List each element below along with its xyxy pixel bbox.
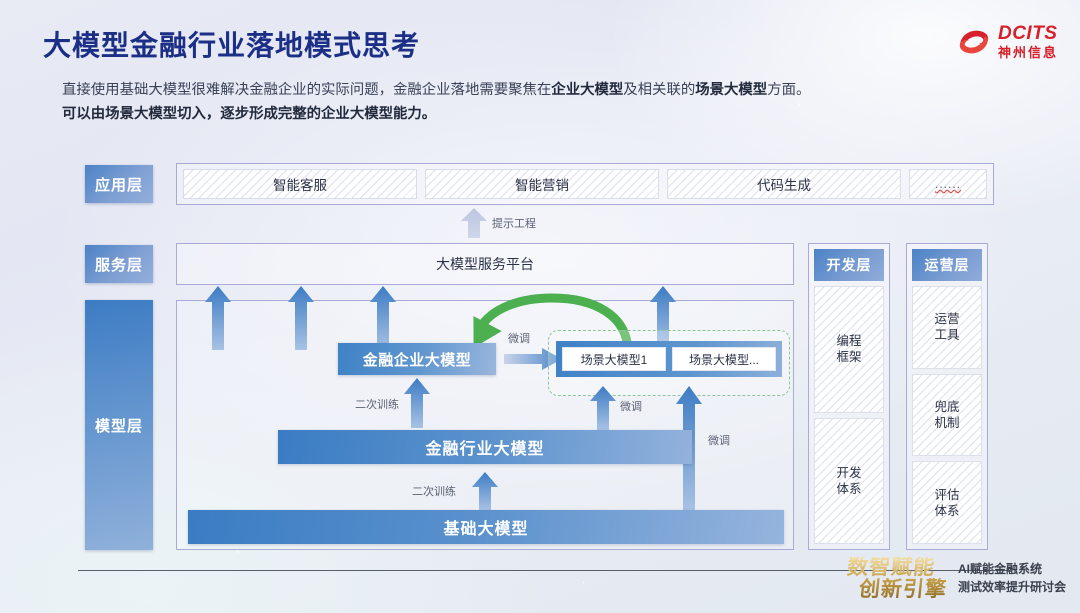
subtitle-emph-scene: 场景大模型 (695, 82, 767, 98)
scene-model-cell-2[interactable]: 场景大模型... (672, 347, 776, 371)
label-retrain-industry: 二次训练 (412, 483, 456, 499)
ops-cell-label: 评估 体系 (934, 487, 959, 519)
arrow-up-3 (370, 286, 396, 350)
app-cell-more[interactable]: ...... (909, 169, 987, 199)
subtitle-text-e: 方面。 (767, 82, 810, 98)
ops-layer-head: 运营层 (912, 249, 982, 281)
dev-layer-head: 开发层 (814, 249, 884, 281)
dev-cell-programming-framework[interactable]: 编程 框架 (814, 286, 884, 413)
box-industry-model-label: 金融行业大模型 (425, 435, 544, 459)
box-enterprise-model-label: 金融企业大模型 (363, 349, 472, 370)
logo-en: DCITS (998, 24, 1058, 43)
scene-model-label: 场景大模型1 (581, 351, 648, 368)
event-branding: 数智赋能 创新引擎 AI赋能金融系统 测试效率提升研讨会 (846, 557, 1066, 601)
event-gold-line-1: 数智赋能 (846, 557, 950, 579)
arrow-up-enterprise-retrain (404, 378, 430, 428)
app-cell-label: 智能客服 (273, 174, 327, 194)
logo-cn: 神州信息 (998, 46, 1058, 59)
event-title-text: AI赋能金融系统 测试效率提升研讨会 (958, 562, 1066, 595)
logo-text: DCITS 神州信息 (998, 24, 1058, 59)
arrow-up-2 (288, 286, 314, 350)
dev-cell-dev-system[interactable]: 开发 体系 (814, 418, 884, 545)
app-cell-customer-service[interactable]: 智能客服 (183, 169, 417, 199)
subtitle-text-c: 及相关联的 (623, 82, 695, 98)
ops-cell-label: 兜底 机制 (934, 399, 959, 431)
layer-chip-application-label: 应用层 (95, 174, 143, 195)
scene-model-label: 场景大模型... (689, 351, 759, 368)
page-subtitle: 直接使用基础大模型很难解决金融企业的实际问题，金融企业落地需要聚焦在企业大模型及… (62, 78, 942, 126)
ops-cell-evaluation-system[interactable]: 评估 体系 (912, 461, 982, 544)
label-fine-tune-scene-up: 微调 (620, 398, 642, 414)
box-enterprise-model[interactable]: 金融企业大模型 (338, 343, 496, 375)
app-cell-code-generation[interactable]: 代码生成 (667, 169, 901, 199)
layer-chip-service: 服务层 (85, 245, 153, 283)
service-layer-panel: 大模型服务平台 (176, 243, 794, 285)
subtitle-line-2: 可以由场景大模型切入，逐步形成完整的企业大模型能力。 (62, 102, 942, 126)
ops-cell-label: 运营 工具 (934, 311, 959, 343)
event-text-line-2: 测试效率提升研讨会 (958, 580, 1066, 595)
arrow-up-industry-retrain (472, 472, 498, 510)
arrow-up-scene-fine-tune (590, 386, 616, 430)
layer-chip-model-label: 模型层 (95, 415, 143, 436)
app-cell-marketing[interactable]: 智能营销 (425, 169, 659, 199)
dcits-swoosh-icon (957, 27, 991, 57)
scene-model-cell-1[interactable]: 场景大模型1 (562, 347, 666, 371)
dev-cell-label: 开发 体系 (836, 465, 861, 497)
ops-cell-operation-tools[interactable]: 运营 工具 (912, 286, 982, 369)
label-fine-tune-to-scene: 微调 (508, 330, 530, 346)
subtitle-text-a: 直接使用基础大模型很难解决金融企业的实际问题，金融企业落地需要聚焦在 (62, 82, 551, 98)
ops-cell-fallback-mechanism[interactable]: 兜底 机制 (912, 374, 982, 457)
app-cell-more-label: ...... (935, 177, 961, 191)
arrow-prompt-engineering (461, 208, 487, 238)
ops-layer-column: 运营层 运营 工具 兜底 机制 评估 体系 (906, 243, 988, 550)
scene-models-inner: 场景大模型1 场景大模型... (556, 341, 782, 377)
layer-chip-service-label: 服务层 (95, 254, 143, 275)
app-cell-label: 智能营销 (515, 174, 569, 194)
label-retrain-enterprise: 二次训练 (355, 396, 399, 412)
label-prompt-engineering: 提示工程 (492, 215, 536, 231)
event-gold-line-2: 创新引擎 (858, 579, 948, 601)
event-gold-slogan: 数智赋能 创新引擎 (844, 557, 951, 601)
layer-chip-model: 模型层 (85, 300, 153, 550)
arrow-up-1 (205, 286, 231, 350)
service-platform-label: 大模型服务平台 (436, 254, 534, 274)
ops-layer-head-label: 运营层 (925, 255, 970, 275)
subtitle-emph-enterprise: 企业大模型 (551, 82, 623, 98)
dev-layer-column: 开发层 编程 框架 开发 体系 (808, 243, 890, 550)
dev-layer-head-label: 开发层 (827, 255, 872, 275)
dev-cell-label: 编程 框架 (836, 333, 861, 365)
event-text-line-1: AI赋能金融系统 (958, 562, 1066, 577)
label-fine-tune-right: 微调 (708, 432, 730, 448)
app-cell-label: 代码生成 (757, 174, 811, 194)
box-industry-model[interactable]: 金融行业大模型 (278, 430, 692, 464)
box-base-model[interactable]: 基础大模型 (188, 510, 784, 544)
box-base-model-label: 基础大模型 (443, 515, 528, 539)
slide-root: 大模型金融行业落地模式思考 直接使用基础大模型很难解决金融企业的实际问题，金融企… (0, 0, 1080, 613)
application-layer-panel: 智能客服 智能营销 代码生成 ...... (176, 163, 994, 205)
layer-chip-application: 应用层 (85, 165, 153, 203)
brand-logo: DCITS 神州信息 (957, 24, 1058, 59)
page-title: 大模型金融行业落地模式思考 (43, 24, 420, 64)
